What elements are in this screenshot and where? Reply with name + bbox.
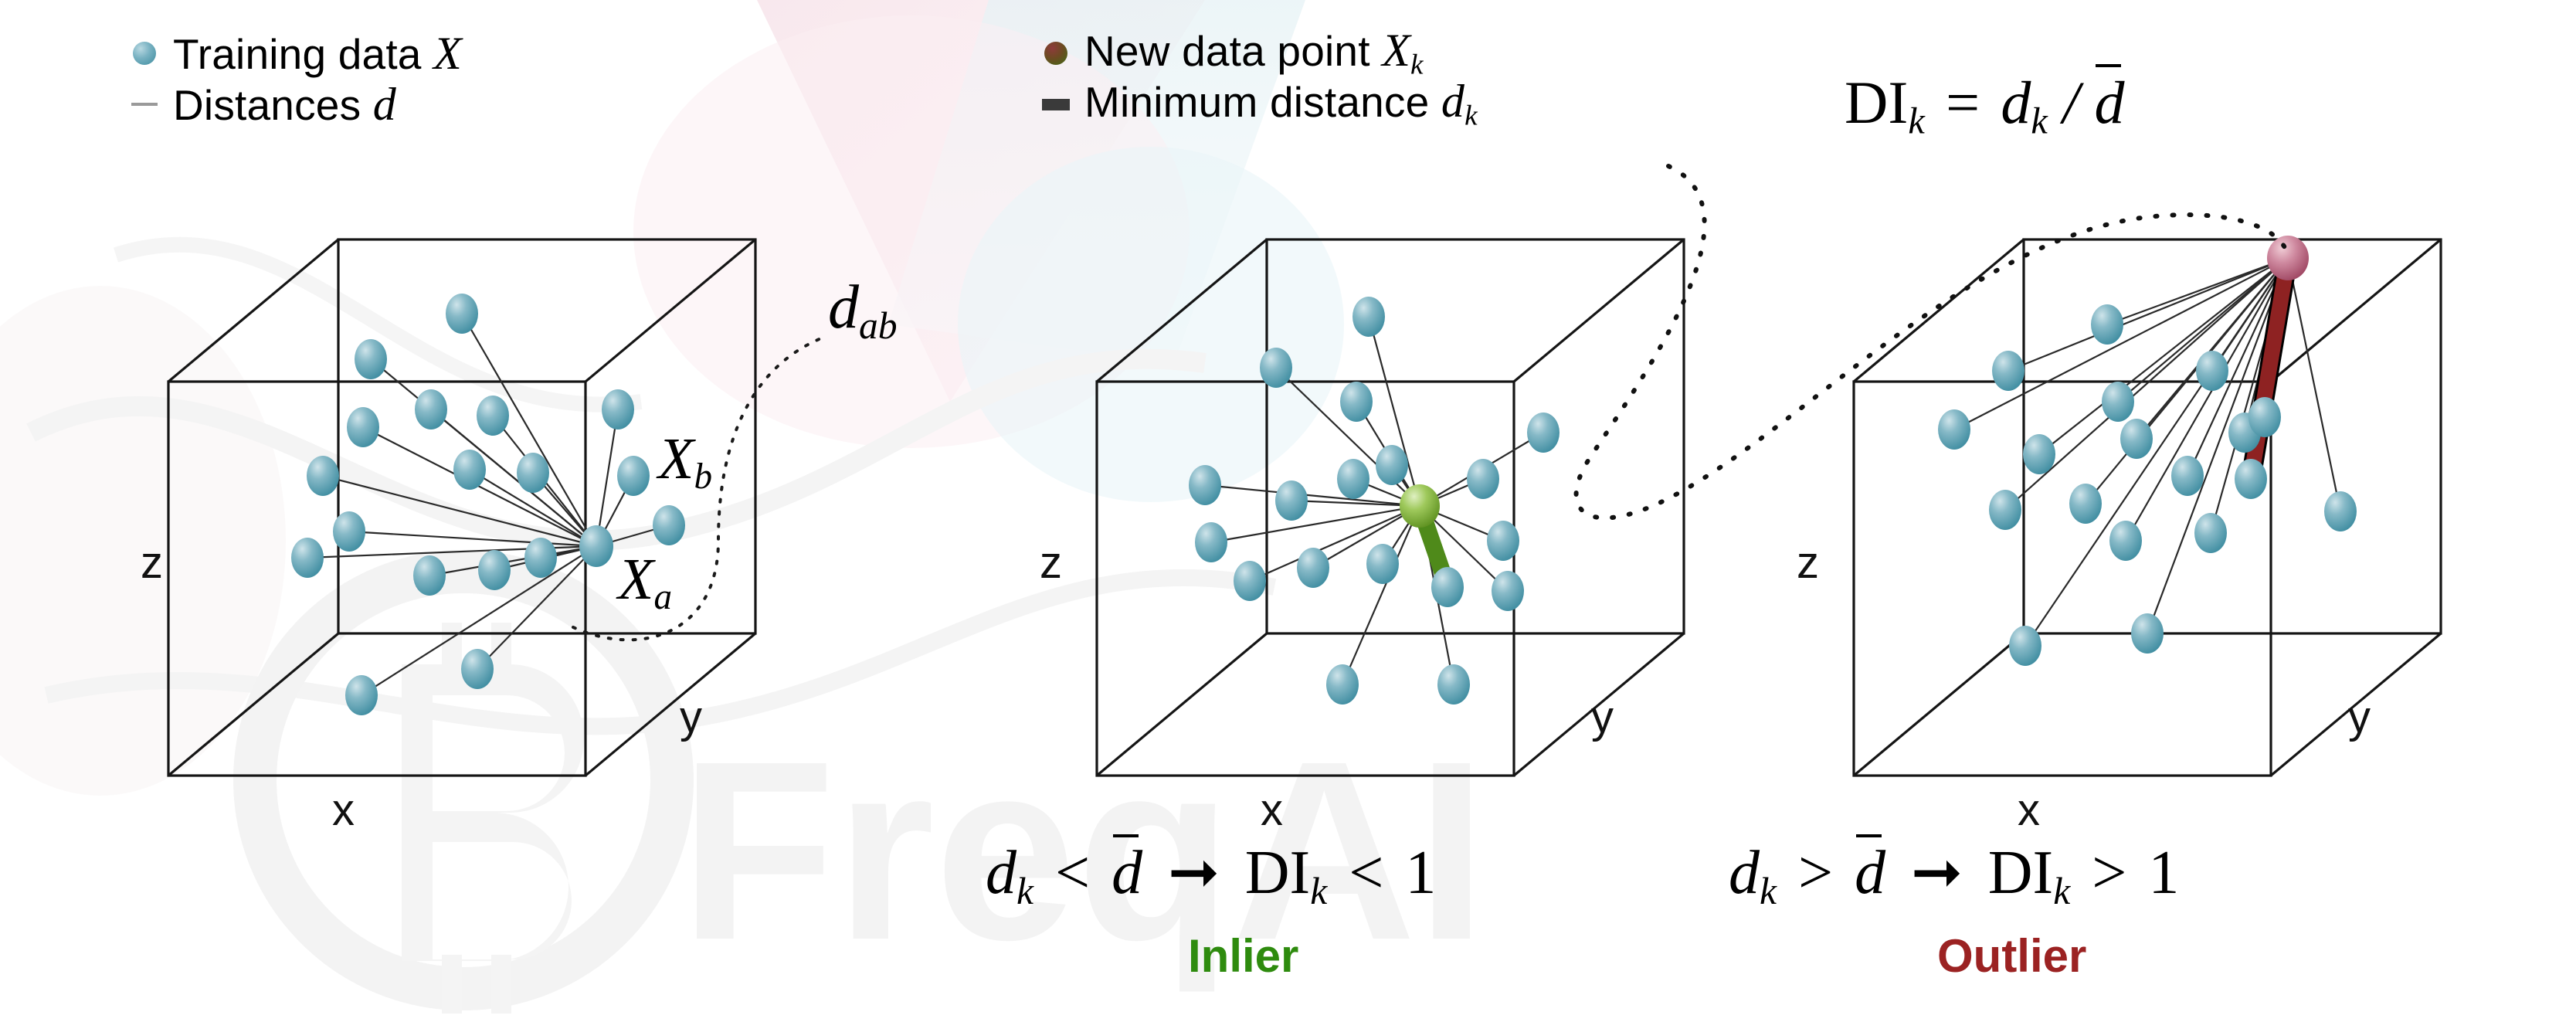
legend-symbol-dk-sub: k [1464, 100, 1478, 132]
legend-item-training-data: Training data X [116, 28, 462, 79]
inlier-dk: d [986, 839, 1016, 907]
point-label-Xa: Xa [618, 550, 672, 616]
training-points [291, 294, 685, 715]
verdict-label-outlier: Outlier [1937, 933, 2086, 980]
di-denominator-dbar: d [2095, 68, 2125, 138]
di-lhs: DI [1845, 69, 1908, 136]
di-equals: = [1940, 69, 1986, 136]
legend-label-minimum-distance: Minimum distance [1084, 78, 1429, 126]
inlier-dbar: d [1112, 838, 1142, 908]
axis-label-y-panel3: y [2348, 695, 2371, 740]
outlier-threshold: 1 [2148, 839, 2179, 907]
formula-outlier-relation: dk > d ➞ DIk > 1 [1729, 836, 2179, 913]
outlier-dk: d [1729, 839, 1760, 907]
axis-label-x-panel1: x [332, 788, 355, 833]
inlier-arrow-icon: ➞ [1158, 836, 1230, 908]
outlier-arrow-icon: ➞ [1901, 836, 1973, 908]
inlier-op-lt: < [1049, 839, 1096, 907]
training-points [1938, 304, 2357, 666]
di-numerator-sub: k [2031, 101, 2047, 142]
legend-item-distances: Distances d [116, 79, 462, 130]
axis-label-y-panel2: y [1591, 695, 1614, 740]
inlier-threshold: 1 [1405, 839, 1436, 907]
legend-symbol-X: X [433, 28, 462, 79]
legend-symbol-d: d [373, 79, 396, 130]
panel-training-cube [168, 239, 825, 776]
di-slash: / [2062, 69, 2079, 136]
verdict-label-inlier: Inlier [1188, 933, 1298, 980]
distance-lines [1205, 317, 1543, 684]
legend-label-training-data: Training data [173, 30, 422, 78]
axis-label-y-panel1: y [680, 695, 702, 740]
inlier-op2-lt: < [1342, 839, 1390, 907]
legend-label-new-data-point: New data point [1084, 27, 1370, 75]
axis-label-z-panel1: z [141, 541, 163, 586]
legend-symbol-dk: dk [1441, 76, 1478, 127]
outlier-DI: DI [1988, 839, 2053, 907]
axis-label-z-panel2: z [1040, 541, 1062, 586]
inlier-DI: DI [1245, 839, 1310, 907]
di-lhs-sub: k [1908, 101, 1924, 142]
legend-left: Training data X Distances d [116, 28, 462, 130]
outlier-op-gt: > [1792, 839, 1839, 907]
axis-label-z-panel3: z [1797, 541, 1819, 586]
formula-di-definition: DIk = dk / d [1845, 68, 2125, 143]
thin-gray-dash-icon [116, 103, 173, 106]
outlier-op2-gt: > [2086, 839, 2133, 907]
legend-symbol-Xk: Xk [1382, 25, 1424, 76]
axis-label-x-panel3: x [2018, 788, 2040, 833]
training-points [1189, 297, 1560, 705]
new-point-sphere-icon [1027, 42, 1084, 65]
formula-inlier-relation: dk < d ➞ DIk < 1 [986, 836, 1436, 913]
teal-sphere-icon [116, 42, 173, 65]
legend-label-distances: Distances [173, 81, 361, 129]
legend-symbol-Xk-sub: k [1410, 49, 1424, 81]
point-label-Xb: Xb [658, 430, 712, 495]
legend-right: New data point Xk Minimum distance dk [1027, 28, 1478, 130]
outlier-dbar: d [1855, 838, 1885, 908]
callout-label-dab: dab [828, 277, 898, 345]
thick-dark-dash-icon [1027, 99, 1084, 110]
anchor-point-Xa [579, 525, 613, 567]
di-numerator: d [2001, 69, 2031, 136]
legend-item-new-data-point: New data point Xk [1027, 28, 1478, 79]
new-data-point-outlier [2267, 236, 2309, 280]
axis-label-x-panel2: x [1261, 788, 1283, 833]
legend-item-minimum-distance: Minimum distance dk [1027, 79, 1478, 130]
new-data-point-inlier [1400, 484, 1440, 528]
